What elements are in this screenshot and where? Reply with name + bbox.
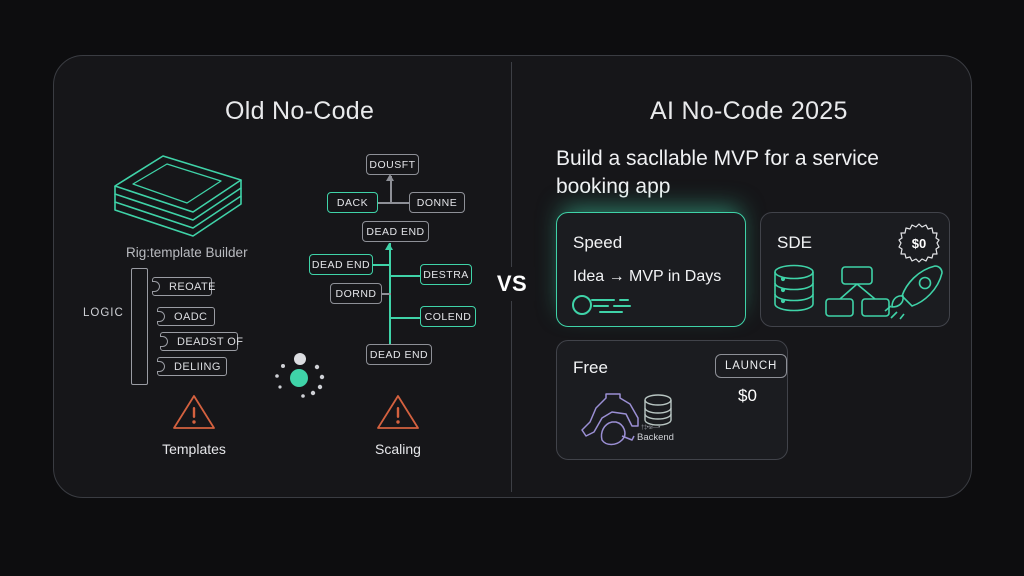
flow-node[interactable]: DEAD END (309, 254, 373, 275)
card-free-title: Free (573, 358, 608, 378)
logic-label: LOGIC (83, 307, 124, 319)
warning-scaling: Scaling (366, 392, 430, 457)
flow-node[interactable]: DOUSFT (366, 154, 419, 175)
prompt-text: Build a sacllable MVP for a service book… (556, 145, 886, 202)
logic-block[interactable]: OADC (157, 307, 215, 326)
flow-node[interactable]: DESTRA (420, 264, 472, 285)
logic-block[interactable]: DEADST OF (160, 332, 238, 351)
backend-label: Backend (637, 432, 674, 443)
price-badge-text: $0 (912, 236, 926, 251)
flow-node[interactable]: COLEND (420, 306, 476, 327)
sde-icon-row (770, 262, 945, 325)
loading-spinner-icon (272, 350, 330, 398)
card-speed-subtitle: Idea → MVP in Days (573, 268, 721, 286)
card-sde-title: SDE (777, 233, 812, 253)
launch-button[interactable]: LAUNCH (715, 354, 787, 378)
decorative-squiggle: †‡•※—• (641, 424, 660, 431)
left-panel-title: Old No-Code (225, 97, 374, 126)
template-stack-icon (103, 140, 253, 245)
warning-triangle-icon (375, 392, 421, 432)
card-speed-title: Speed (573, 233, 622, 253)
flow-connector (390, 176, 392, 202)
right-panel-title: AI No-Code 2025 (650, 97, 848, 126)
vs-badge: VS (489, 267, 535, 301)
warning-label: Templates (162, 441, 226, 457)
builder-caption: Rig:template Builder (126, 245, 248, 260)
flow-node[interactable]: DONNE (409, 192, 465, 213)
speed-lines-icon (570, 292, 640, 325)
flow-node[interactable]: DEAD END (362, 221, 429, 242)
flow-connector (389, 317, 421, 319)
logic-block[interactable]: DELIING (157, 357, 227, 376)
warning-templates: Templates (162, 392, 226, 457)
flow-node[interactable]: DACK (327, 192, 378, 213)
flow-node[interactable]: DEAD END (366, 344, 432, 365)
warning-triangle-icon (171, 392, 217, 432)
warning-label: Scaling (366, 441, 430, 457)
flow-node[interactable]: DORND (330, 283, 382, 304)
slide-canvas: VS Old No-Code Rig:template Builder LOGI… (0, 0, 1024, 576)
flow-connector (389, 243, 391, 355)
flow-connector (389, 275, 421, 277)
logic-block[interactable]: REOATE (152, 277, 212, 296)
free-price: $0 (738, 386, 757, 406)
logic-spine (131, 268, 148, 385)
